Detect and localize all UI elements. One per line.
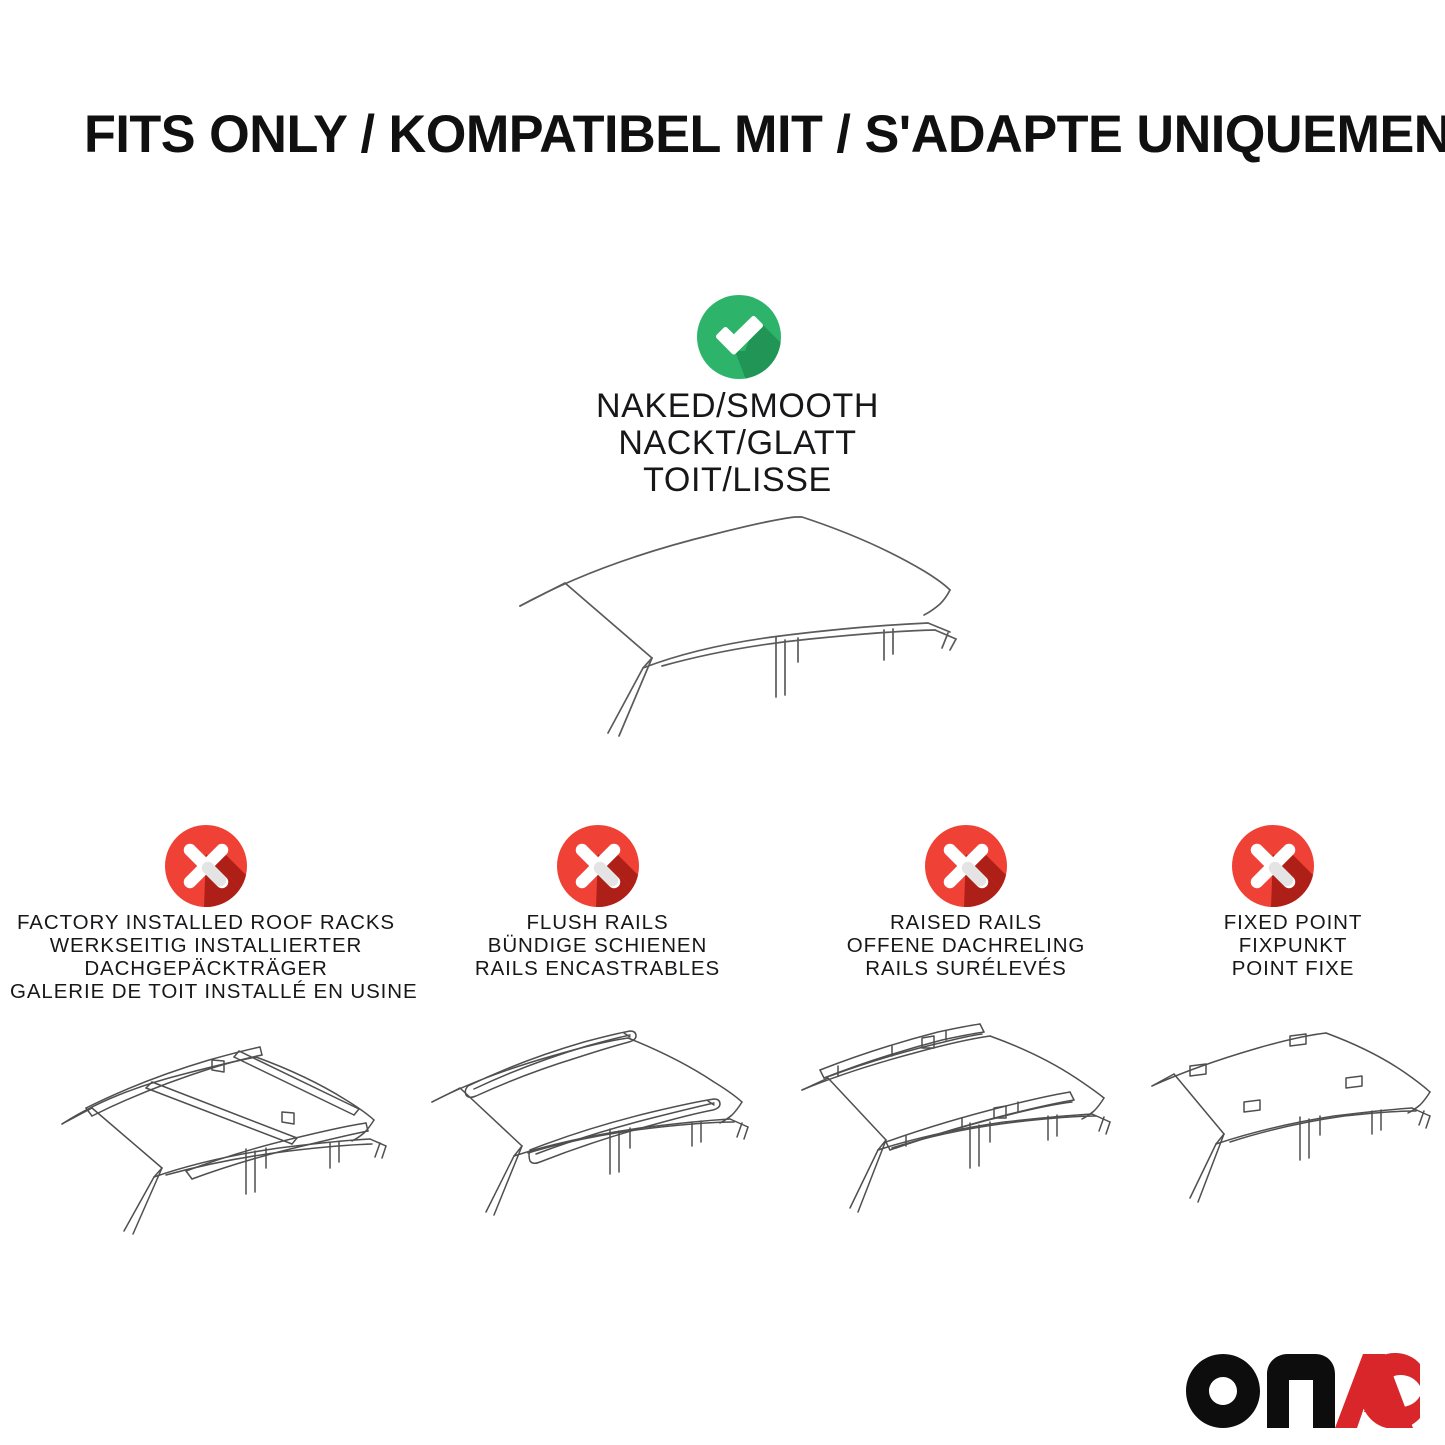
fixed-point-label-line-1: FIXED POINT (1148, 911, 1438, 934)
factory-racks-label-line-3: DACHGEPÄCKTRÄGER (10, 957, 402, 980)
factory-roof-rack-drawing (34, 1016, 404, 1241)
raised-rails-label-line-2: OFFENE DACHRELING (790, 934, 1142, 957)
smooth-bare-roof-drawing (480, 490, 990, 755)
fixed-point-label: FIXED POINT FIXPUNKT POINT FIXE (1148, 911, 1438, 980)
factory-racks-label-line-4: GALERIE DE TOIT INSTALLÉ EN USINE (10, 980, 402, 1003)
raised-rails-label-line-1: RAISED RAILS (790, 911, 1142, 934)
compatible-label-line-2: NACKT/GLATT (465, 425, 1010, 462)
flush-rails-label-line-3: RAILS ENCASTRABLES (420, 957, 775, 980)
flush-rails-label-line-2: BÜNDIGE SCHIENEN (420, 934, 775, 957)
cross-circle-icon-fixed-point (1231, 824, 1315, 908)
page-title: FITS ONLY / KOMPATIBEL MIT / S'ADAPTE UN… (84, 104, 1365, 165)
omac-logo (1185, 1352, 1420, 1428)
compatible-label: NAKED/SMOOTH NACKT/GLATT TOIT/LISSE (465, 388, 1010, 499)
cross-circle-icon-raised-rails (924, 824, 1008, 908)
factory-racks-label-line-1: FACTORY INSTALLED ROOF RACKS (10, 911, 402, 934)
infographic-canvas: FITS ONLY / KOMPATIBEL MIT / S'ADAPTE UN… (0, 0, 1445, 1445)
check-circle-icon (696, 294, 782, 380)
factory-racks-label: FACTORY INSTALLED ROOF RACKS WERKSEITIG … (10, 911, 402, 1003)
flush-rails-label: FLUSH RAILS BÜNDIGE SCHIENEN RAILS ENCAS… (420, 911, 775, 980)
raised-rails-label: RAISED RAILS OFFENE DACHRELING RAILS SUR… (790, 911, 1142, 980)
factory-racks-label-line-2: WERKSEITIG INSTALLIERTER (10, 934, 402, 957)
raised-rails-drawing (794, 1016, 1164, 1241)
cross-circle-icon-flush-rails (556, 824, 640, 908)
cross-circle-icon-factory-racks (164, 824, 248, 908)
raised-rails-label-line-3: RAILS SURÉLEVÉS (790, 957, 1142, 980)
fixed-point-drawing (1144, 1016, 1445, 1241)
flush-rails-label-line-1: FLUSH RAILS (420, 911, 775, 934)
fixed-point-label-line-2: FIXPUNKT (1148, 934, 1438, 957)
flush-rails-drawing (424, 1016, 794, 1241)
fixed-point-label-line-3: POINT FIXE (1148, 957, 1438, 980)
compatible-label-line-1: NAKED/SMOOTH (465, 388, 1010, 425)
